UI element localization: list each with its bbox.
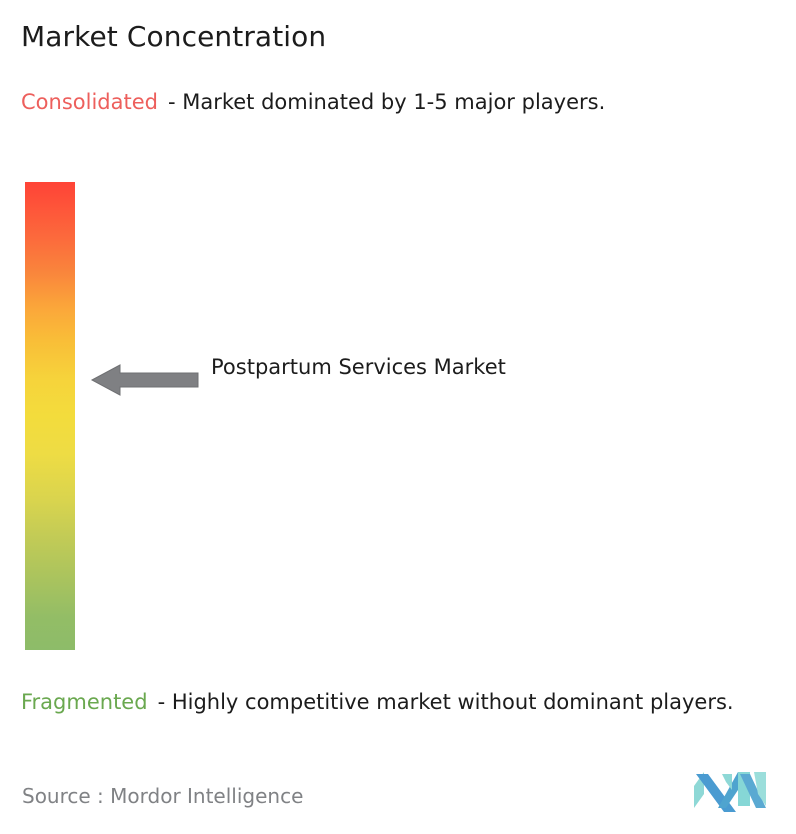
fragmented-description: - Highly competitive market without domi… <box>158 690 734 714</box>
consolidated-keyword: Consolidated <box>21 90 158 114</box>
page-title: Market Concentration <box>21 19 326 55</box>
fragmented-keyword: Fragmented <box>21 690 148 714</box>
consolidated-caption: Consolidated- Market dominated by 1-5 ma… <box>21 86 783 118</box>
callout-label-line-1: Postpartum Services Market <box>211 350 541 385</box>
market-concentration-gradient-bar <box>25 182 75 650</box>
source-attribution: Source : Mordor Intelligence <box>22 782 303 810</box>
left-arrow-icon <box>90 362 200 398</box>
fragmented-caption: Fragmented- Highly competitive market wi… <box>21 686 783 718</box>
callout-label: Postpartum Services Market <box>211 350 541 385</box>
mordor-intelligence-logo-icon <box>692 766 774 814</box>
consolidated-description: - Market dominated by 1-5 major players. <box>168 90 605 114</box>
market-concentration-infographic: Market Concentration Consolidated- Marke… <box>0 0 796 834</box>
